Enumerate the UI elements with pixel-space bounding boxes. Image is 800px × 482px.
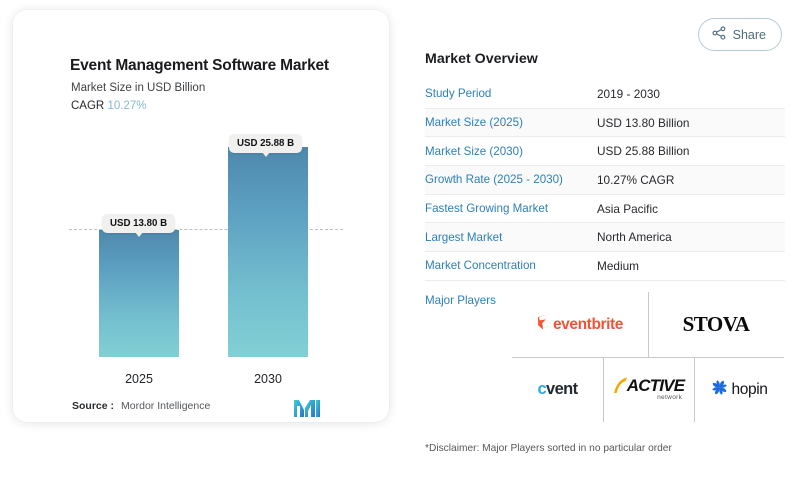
bar-value-label-2025: USD 13.80 B bbox=[102, 214, 175, 233]
eventbrite-wordmark: eventbrite bbox=[553, 316, 623, 334]
row-key: Largest Market bbox=[425, 231, 597, 244]
row-value: North America bbox=[597, 230, 672, 244]
eventbrite-logo-icon bbox=[537, 313, 550, 336]
major-players-logo-grid: eventbrite STOVA cvent bbox=[512, 292, 784, 422]
mordor-intelligence-logo-icon bbox=[293, 398, 321, 423]
disclaimer-text: *Disclaimer: Major Players sorted in no … bbox=[425, 443, 672, 454]
player-logo-eventbrite[interactable]: eventbrite bbox=[512, 292, 648, 357]
table-row: Growth Rate (2025 - 2030) 10.27% CAGR bbox=[425, 166, 785, 195]
x-axis-tick-2030: 2030 bbox=[228, 372, 308, 386]
chart-card: Event Management Software Market Market … bbox=[13, 10, 389, 422]
stova-logo-icon: STOVA bbox=[679, 310, 754, 339]
bar-value-label-2030: USD 25.88 B bbox=[229, 134, 302, 153]
row-key: Market Size (2030) bbox=[425, 145, 597, 158]
row-value: 10.27% CAGR bbox=[597, 173, 674, 187]
table-row: Market Concentration Medium bbox=[425, 252, 785, 281]
panel-title: Market Overview bbox=[425, 51, 538, 67]
player-logo-stova[interactable]: STOVA bbox=[648, 292, 784, 357]
table-row: Largest Market North America bbox=[425, 223, 785, 252]
table-row: Study Period 2019 - 2030 bbox=[425, 80, 785, 109]
market-overview-panel: Market Overview Study Period 2019 - 2030… bbox=[425, 0, 785, 482]
player-logo-cvent[interactable]: cvent bbox=[512, 357, 603, 422]
active-subtext: network bbox=[657, 395, 682, 402]
row-key: Fastest Growing Market bbox=[425, 202, 597, 215]
table-row: Fastest Growing Market Asia Pacific bbox=[425, 195, 785, 224]
row-value: USD 13.80 Billion bbox=[597, 116, 689, 130]
bar-2030[interactable] bbox=[228, 147, 308, 357]
active-wordmark: ACTIVE bbox=[627, 377, 685, 394]
row-value: 2019 - 2030 bbox=[597, 87, 660, 101]
table-row: Market Size (2025) USD 13.80 Billion bbox=[425, 109, 785, 138]
major-players-label: Major Players bbox=[425, 294, 496, 307]
hopin-wordmark: hopin bbox=[732, 381, 768, 399]
row-key: Market Size (2025) bbox=[425, 116, 597, 129]
market-overview-table: Study Period 2019 - 2030 Market Size (20… bbox=[425, 80, 785, 281]
table-row: Market Size (2030) USD 25.88 Billion bbox=[425, 137, 785, 166]
market-report-screenshot: Event Management Software Market Market … bbox=[0, 0, 800, 482]
bar-chart-plot: USD 13.80 B USD 25.88 B 2025 2030 bbox=[13, 10, 389, 422]
player-logo-active-network[interactable]: ACTIVE network bbox=[603, 357, 694, 422]
bar-2025[interactable] bbox=[99, 230, 179, 357]
player-logo-hopin[interactable]: hopin bbox=[694, 357, 784, 422]
source-name: Mordor Intelligence bbox=[121, 400, 210, 412]
row-value: Asia Pacific bbox=[597, 202, 658, 216]
row-value: USD 25.88 Billion bbox=[597, 144, 689, 158]
source-label: Source : bbox=[72, 400, 114, 412]
row-value: Medium bbox=[597, 259, 639, 273]
cvent-logo-icon: cvent bbox=[537, 380, 577, 399]
row-key: Market Concentration bbox=[425, 259, 597, 272]
source-row: Source : Mordor Intelligence bbox=[72, 400, 210, 412]
x-axis-tick-2025: 2025 bbox=[99, 372, 179, 386]
row-key: Study Period bbox=[425, 87, 597, 100]
hopin-logo-icon bbox=[711, 379, 728, 401]
row-key: Growth Rate (2025 - 2030) bbox=[425, 173, 597, 186]
active-network-logo-icon: ACTIVE network bbox=[613, 377, 685, 402]
